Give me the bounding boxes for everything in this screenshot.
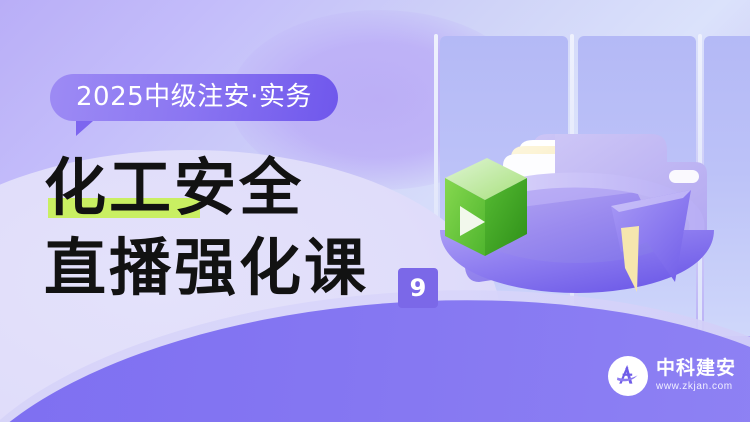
logo-text-block: 中科建安 www.zkjan.com — [656, 358, 736, 395]
badge-tail — [76, 121, 93, 136]
badge-label: 2025中级注安·实务 — [76, 82, 312, 112]
title-line-1: 化工安全 — [44, 152, 474, 224]
badge-pill: 2025中级注安·实务 — [50, 74, 338, 121]
logo-brand-name: 中科建安 — [656, 358, 736, 379]
course-category-badge: 2025中级注安·实务 — [50, 74, 338, 121]
brand-logo: 中科建安 www.zkjan.com — [608, 356, 736, 396]
logo-website-url: www.zkjan.com — [656, 380, 736, 394]
episode-number-badge: 9 — [398, 268, 438, 308]
course-banner: 2025中级注安·实务 化工安全 直播强化课 9 中科建安 www.zkjan.… — [0, 0, 750, 422]
title-line-1-text: 化工安全 — [44, 151, 304, 224]
title-line-2-text: 直播强化课 — [44, 231, 369, 304]
zkjan-logo-icon — [608, 356, 648, 396]
